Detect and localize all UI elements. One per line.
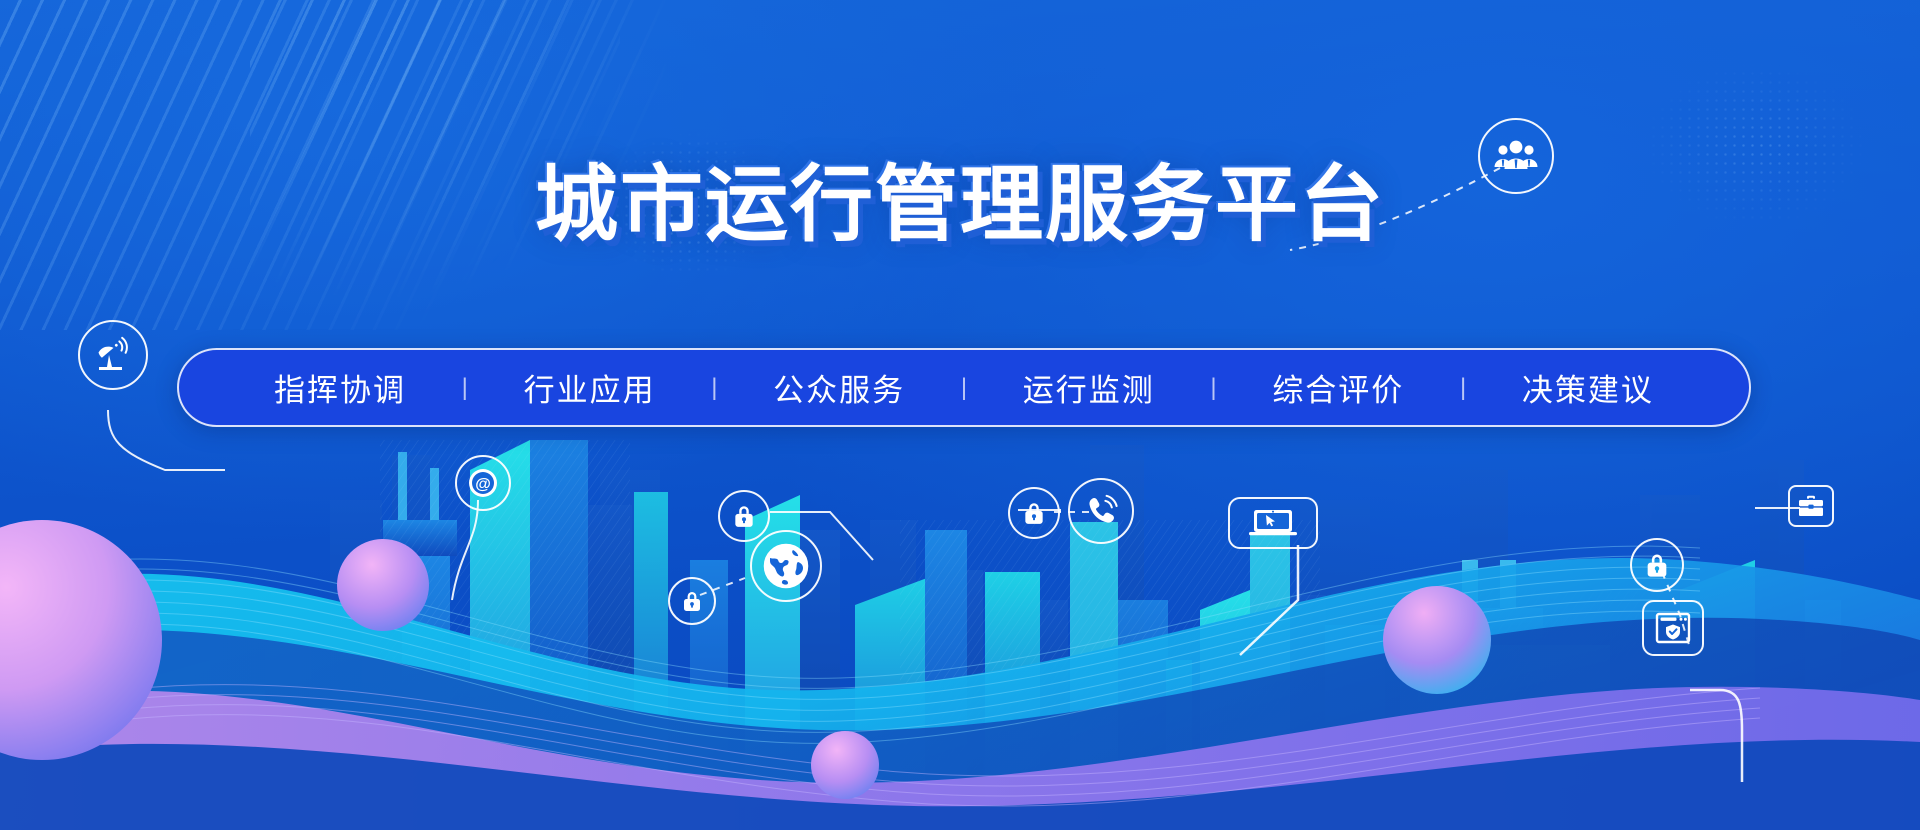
nav-item-comprehensive-evaluation[interactable]: 综合评价 bbox=[1262, 363, 1414, 412]
people-group-icon bbox=[1478, 118, 1554, 194]
lock-icon bbox=[668, 577, 716, 625]
city-platform-banner: 城市运行管理服务平台 指挥协调 | 行业应用 | 公众服务 | 运行监测 | 综… bbox=[0, 0, 1920, 830]
briefcase-icon bbox=[1788, 485, 1834, 527]
browser-shield-icon bbox=[1642, 600, 1704, 656]
main-navigation-bar: 指挥协调 | 行业应用 | 公众服务 | 运行监测 | 综合评价 | 决策建议 bbox=[177, 348, 1751, 427]
at-email-icon: @ bbox=[455, 455, 511, 511]
svg-text:@: @ bbox=[475, 476, 491, 493]
lock-icon-4 bbox=[1630, 538, 1684, 592]
nav-item-decision-suggestion[interactable]: 决策建议 bbox=[1512, 363, 1664, 412]
lock-icon-3 bbox=[1008, 487, 1060, 539]
nav-item-command-coordination[interactable]: 指挥协调 bbox=[264, 363, 416, 412]
satellite-dish-icon bbox=[78, 320, 148, 390]
nav-separator-3: | bbox=[961, 374, 967, 402]
lock-icon-2 bbox=[718, 490, 770, 542]
nav-separator-2: | bbox=[711, 374, 717, 402]
nav-separator-5: | bbox=[1460, 374, 1466, 402]
nav-separator-4: | bbox=[1210, 374, 1216, 402]
page-title: 城市运行管理服务平台 bbox=[0, 163, 1920, 246]
nav-separator: | bbox=[462, 374, 468, 402]
nav-item-public-service[interactable]: 公众服务 bbox=[763, 363, 915, 412]
nav-item-operation-monitoring[interactable]: 运行监测 bbox=[1013, 363, 1165, 412]
phone-call-icon bbox=[1068, 478, 1134, 544]
globe-icon bbox=[750, 530, 822, 602]
laptop-cursor-icon bbox=[1228, 497, 1318, 549]
nav-item-industry-application[interactable]: 行业应用 bbox=[514, 363, 666, 412]
